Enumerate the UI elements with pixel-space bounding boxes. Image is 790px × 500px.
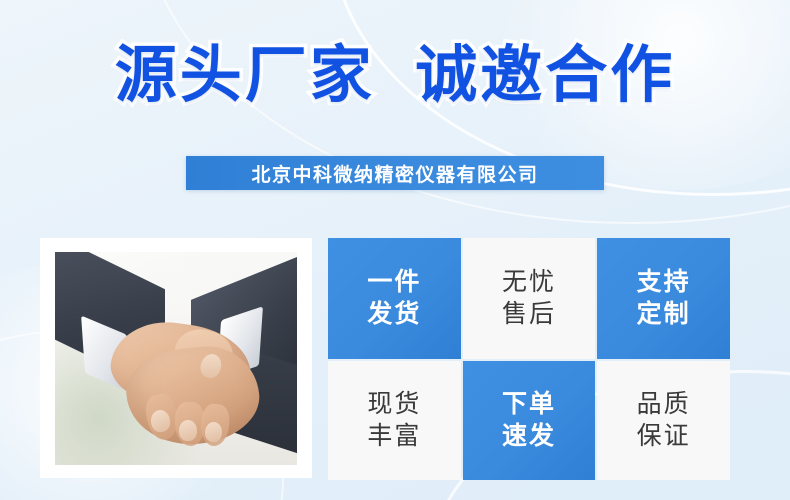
feature-label: 现货 丰富 [367,389,421,452]
feature-label: 下单 速发 [502,389,556,452]
promo-banner: 源头厂家 诚邀合作 北京中科微纳精密仪器有限公司 [0,0,790,500]
feature-label: 品质 保证 [637,389,691,452]
feature-cell-quality-guarantee: 品质 保证 [597,361,730,480]
headline-title: 源头厂家 诚邀合作 [0,42,790,110]
feature-cell-fast-dispatch: 下单 速发 [463,361,596,480]
photo-panel [40,238,312,478]
handshake-photo [55,252,297,465]
content-area: 一件 发货无忧 售后支持 定制现货 丰富下单 速发品质 保证 [40,238,730,478]
feature-cell-customization-supported: 支持 定制 [597,238,730,359]
feature-label: 支持 定制 [637,267,691,330]
feature-label: 无忧 售后 [502,267,556,330]
feature-label: 一件 发货 [367,267,421,330]
feature-cell-abundant-stock: 现货 丰富 [328,361,461,480]
feature-grid: 一件 发货无忧 售后支持 定制现货 丰富下单 速发品质 保证 [328,238,730,478]
feature-cell-worry-free-aftersales: 无忧 售后 [463,238,596,359]
company-name-bar: 北京中科微纳精密仪器有限公司 [186,156,604,190]
fingernail [179,420,198,442]
background-arc [140,0,790,224]
feature-cell-one-piece-shipping: 一件 发货 [328,238,461,359]
company-name-text: 北京中科微纳精密仪器有限公司 [251,160,538,187]
